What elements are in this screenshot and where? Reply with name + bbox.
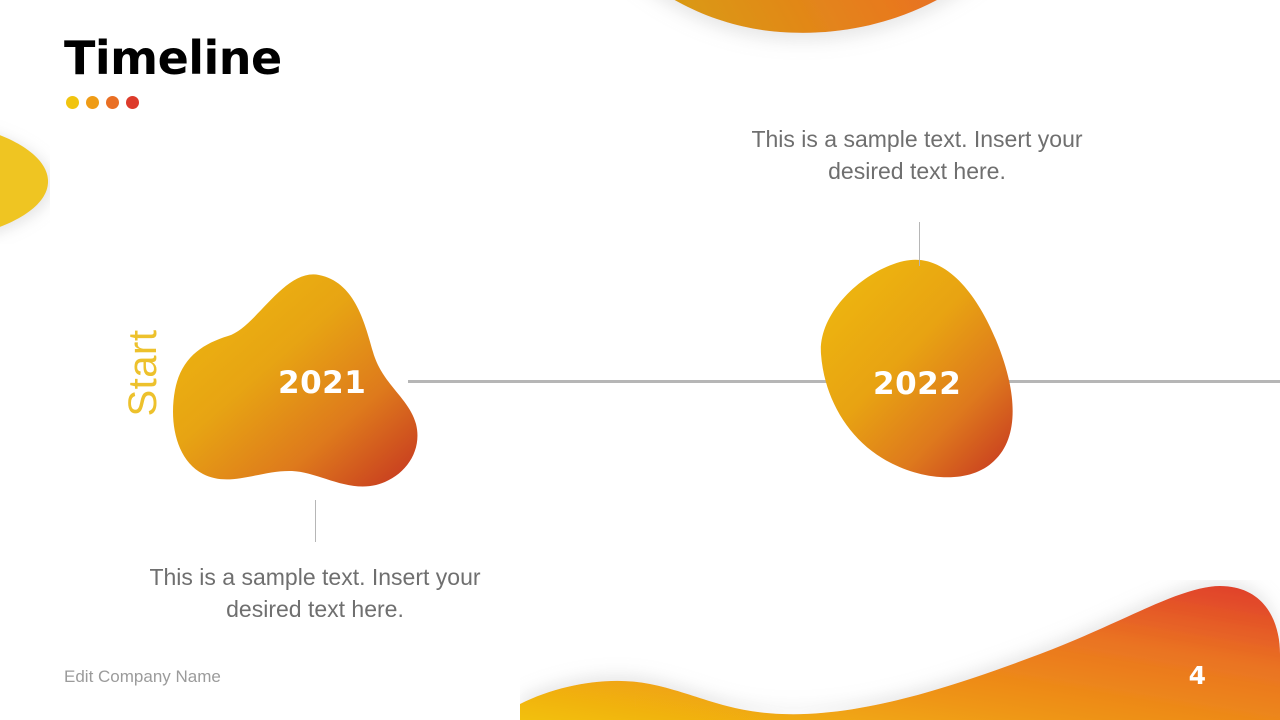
title-dot-red: [126, 96, 139, 109]
company-name-footer[interactable]: Edit Company Name: [64, 667, 221, 687]
milestone-year-2021: 2021: [278, 365, 366, 401]
slide-canvas: Timeline Start 2021 This is a samp: [0, 0, 1280, 720]
decorative-blob-top: [470, 0, 1110, 90]
connector-stem-2021: [315, 500, 316, 542]
milestone-year-2022: 2022: [873, 366, 961, 402]
milestone-blob-2021[interactable]: 2021: [168, 272, 456, 494]
decorative-blob-left: [0, 118, 50, 244]
title-dot-amber: [86, 96, 99, 109]
title-block: Timeline: [64, 34, 282, 109]
title-dot-yellow: [66, 96, 79, 109]
page-title: Timeline: [64, 34, 282, 82]
title-dot-orange: [106, 96, 119, 109]
decorative-blob-bottom: [520, 580, 1280, 720]
page-number: 4: [1189, 661, 1206, 690]
milestone-description-2021: This is a sample text. Insert your desir…: [120, 562, 510, 625]
title-dot-row: [66, 96, 282, 109]
connector-stem-2022: [919, 222, 920, 266]
milestone-description-2022: This is a sample text. Insert your desir…: [722, 124, 1112, 187]
milestone-blob-2022[interactable]: 2022: [818, 258, 1018, 480]
